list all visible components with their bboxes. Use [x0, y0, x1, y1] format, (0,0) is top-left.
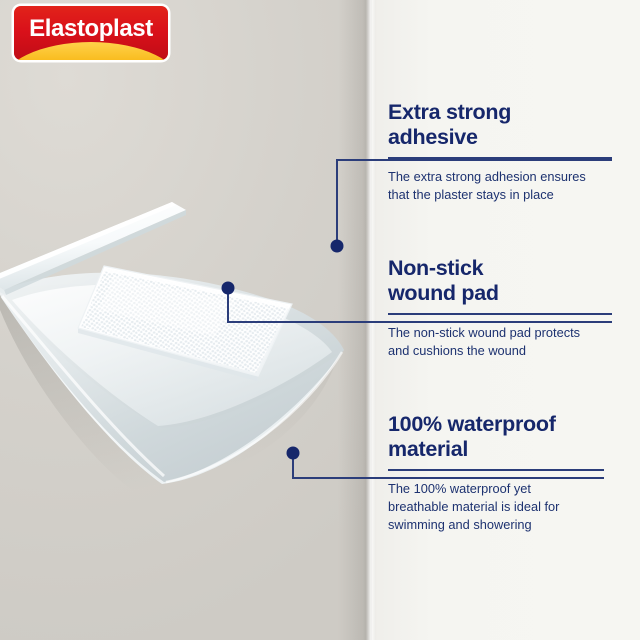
panel-seam-shadow — [366, 0, 376, 640]
callout-title: 100% waterproof material — [388, 412, 616, 462]
logo-wordmark: Elastoplast — [14, 15, 168, 43]
callout-title: Non-stick wound pad — [388, 256, 616, 306]
callout-rule — [388, 313, 612, 315]
callout-body: The 100% waterproof yet breathable mater… — [388, 480, 616, 534]
elastoplast-logo: Elastoplast — [14, 6, 168, 60]
plaster-illustration — [0, 176, 366, 496]
callout-non-stick-wound-pad: Non-stick wound pad The non-stick wound … — [388, 256, 616, 360]
callout-rule — [388, 469, 604, 471]
callout-extra-strong-adhesive: Extra strong adhesive The extra strong a… — [388, 100, 616, 204]
callout-body: The extra strong adhesion ensures that t… — [388, 168, 616, 204]
callout-body: The non-stick wound pad protects and cus… — [388, 324, 616, 360]
callout-rule — [388, 157, 612, 159]
callout-100-percent-waterproof-material: 100% waterproof material The 100% waterp… — [388, 412, 616, 534]
infographic-canvas: Elastoplast — [0, 0, 640, 640]
logo-swoosh — [14, 42, 168, 60]
callout-title: Extra strong adhesive — [388, 100, 616, 150]
